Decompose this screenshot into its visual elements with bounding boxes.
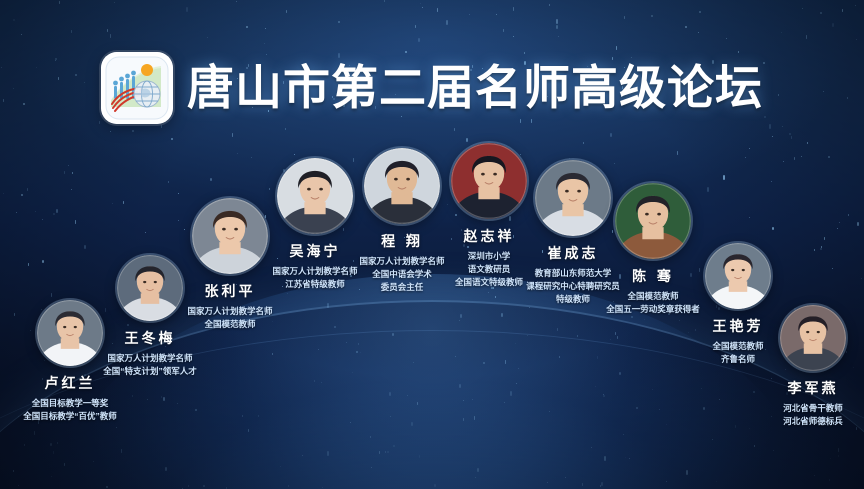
speaker-name: 王冬梅 [75, 328, 225, 348]
portrait-wang-yanfang [705, 243, 771, 309]
forum-logo-icon [101, 52, 173, 124]
speaker-credential-line: 河北省骨干教师 [738, 402, 864, 415]
poster-header: 唐山市第二届名师高级论坛 [0, 52, 864, 124]
speaker-credential-line: 全国目标教学一等奖 [0, 397, 145, 410]
speaker-credential-line: 国家万人计划教学名师 [155, 305, 305, 318]
speaker-credential-line: 全国模范教师 [155, 318, 305, 331]
speaker-credential-line: 全国目标教学“百优”教师 [0, 410, 145, 423]
portrait-li-junyan [780, 305, 846, 371]
speaker-credential-line: 全国“特支计划”领军人才 [75, 365, 225, 378]
speaker-card: 李军燕河北省骨干教师河北省师德标兵 [738, 305, 864, 428]
speaker-credentials: 全国目标教学一等奖全国目标教学“百优”教师 [0, 397, 145, 423]
speaker-credential-line: 河北省师德标兵 [738, 415, 864, 428]
speaker-name: 李军燕 [738, 378, 864, 398]
speaker-credentials: 河北省骨干教师河北省师德标兵 [738, 402, 864, 428]
speaker-credentials: 国家万人计划教学名师全国“特支计划”领军人才 [75, 352, 225, 378]
poster-stage: 唐山市第二届名师高级论坛 卢红兰全国目标教学一等奖全国目标教学“百优”教师王冬梅… [0, 0, 864, 489]
speaker-credentials: 国家万人计划教学名师全国模范教师 [155, 305, 305, 331]
page-title: 唐山市第二届名师高级论坛 [187, 65, 763, 112]
speaker-credential-line: 国家万人计划教学名师 [75, 352, 225, 365]
